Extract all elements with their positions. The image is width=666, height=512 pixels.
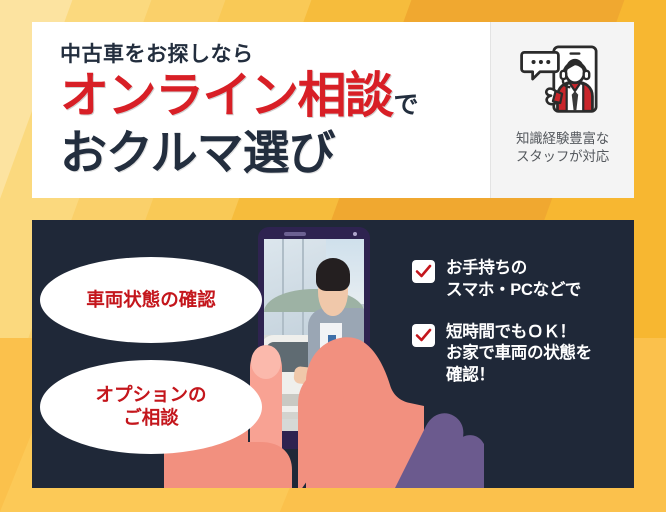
headline-kicker: 中古車をお探しなら bbox=[60, 44, 490, 65]
headline-main-row: オンライン相談 で bbox=[60, 72, 490, 121]
staff-caption: 知識経験豊富な スタッフが対応 bbox=[516, 130, 609, 166]
operator-headset-illustration bbox=[517, 34, 609, 126]
callout-option-consult-label: オプションの ご相談 bbox=[95, 384, 206, 429]
benefits-checklist: お手持ちの スマホ・PCなどで 短時間でもＯＫ！ お家で車両の状態を 確認！ bbox=[412, 258, 630, 407]
callout-vehicle-condition-label: 車両状態の確認 bbox=[86, 289, 216, 312]
checklist-item-text: お手持ちの スマホ・PCなどで bbox=[446, 258, 581, 302]
headline-main-red: オンライン相談 bbox=[60, 72, 393, 121]
staff-panel: 知識経験豊富な スタッフが対応 bbox=[490, 22, 634, 198]
callout-option-consult[interactable]: オプションの ご相談 bbox=[40, 360, 262, 454]
checklist-item: お手持ちの スマホ・PCなどで bbox=[412, 258, 630, 302]
staff-caption-line1: 知識経験豊富な bbox=[516, 130, 609, 148]
checklist-item: 短時間でもＯＫ！ お家で車両の状態を 確認！ bbox=[412, 322, 630, 387]
callout-vehicle-condition[interactable]: 車両状態の確認 bbox=[40, 257, 262, 343]
check-icon bbox=[412, 260, 435, 283]
checklist-item-text: 短時間でもＯＫ！ お家で車両の状態を 確認！ bbox=[446, 322, 592, 387]
online-consultation-banner: 中古車をお探しなら オンライン相談 で おクルマ選び bbox=[0, 0, 666, 512]
check-icon bbox=[412, 324, 435, 347]
phone-speaker bbox=[284, 232, 306, 236]
staff-caption-line2: スタッフが対応 bbox=[516, 148, 609, 166]
phone-camera-icon bbox=[353, 232, 357, 236]
headline-main-suffix: で bbox=[394, 93, 419, 121]
headline-column: 中古車をお探しなら オンライン相談 で おクルマ選び bbox=[32, 22, 490, 198]
feature-panel: 車両状態の確認 オプションの ご相談 お手持ちの スマホ・PCなどで bbox=[32, 220, 634, 488]
headline-sub: おクルマ選び bbox=[60, 129, 490, 176]
headline-card: 中古車をお探しなら オンライン相談 で おクルマ選び bbox=[32, 22, 634, 198]
